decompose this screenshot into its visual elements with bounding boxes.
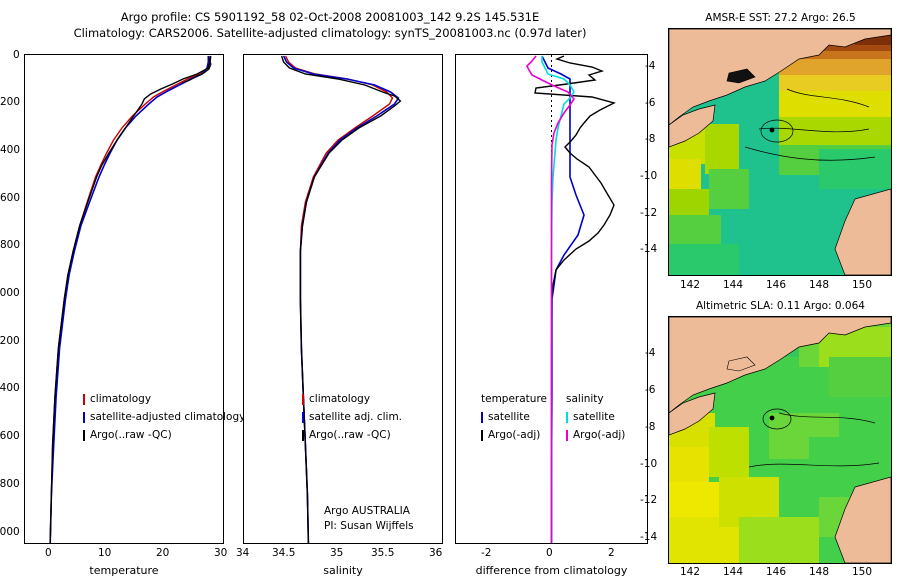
sla-heatmap (669, 317, 891, 563)
legend-label-sal-satellite: satellite adj. clim. (309, 411, 402, 423)
xlabel-difference: difference from climatology (455, 564, 648, 577)
panel-difference: temperature satellite Argo(-adj) salinit… (455, 54, 648, 544)
xtick-temp-10: 10 (98, 547, 111, 559)
salinity-plot (244, 55, 442, 543)
legend-swatch-diff-temp-argo (481, 430, 483, 441)
map-sst-ytick-10: -10 (640, 170, 657, 182)
map-sla-xtick-146: 146 (766, 566, 786, 578)
legend-diff-temp-satellite: satellite (481, 411, 530, 423)
legend-temperature-argo: Argo(..raw -QC) (83, 429, 172, 441)
legend-temperature-satellite: satellite-adjusted climatology (83, 411, 245, 423)
figure-title-line2: Climatology: CARS2006. Satellite-adjuste… (0, 26, 660, 40)
legend-swatch-sal-climatology (302, 394, 304, 405)
figure-root: Argo profile: CS 5901192_58 02-Oct-2008 … (0, 0, 900, 580)
temperature-plot (25, 55, 223, 543)
xtick-temp-0: 0 (45, 547, 52, 559)
map-sst-ytick-12: -12 (640, 207, 657, 219)
map-sla-ytick-12: -12 (640, 494, 657, 506)
figure-title-line1: Argo profile: CS 5901192_58 02-Oct-2008 … (0, 10, 660, 24)
ytick-1600: 1600 (0, 430, 20, 442)
map-sst-ytick-6: -6 (645, 97, 655, 109)
legend-swatch-diff-temp-satellite (481, 412, 483, 423)
legend-diff-sal-argo: Argo(-adj) (566, 429, 625, 441)
legend-label-diff-sal-argo: Argo(-adj) (573, 429, 625, 441)
legend-salinity-satellite: satellite adj. clim. (302, 411, 402, 423)
legend-label-satellite: satellite-adjusted climatology (90, 411, 245, 423)
legend-label-climatology: climatology (90, 393, 151, 405)
ytick-1200: 1200 (0, 335, 20, 347)
ytick-200: 200 (0, 96, 20, 108)
map-sla-ytick-14: -14 (640, 531, 657, 543)
xlabel-temperature: temperature (24, 564, 224, 577)
legend-diff-temp-argo: Argo(-adj) (481, 429, 540, 441)
legend-swatch-sal-argo (302, 430, 304, 441)
panel-temperature: climatology satellite-adjusted climatolo… (24, 54, 224, 544)
ytick-2000: 2000 (0, 526, 20, 538)
map-sla (668, 316, 892, 564)
xtick-diff-neg2: -2 (481, 547, 491, 559)
ytick-1000: 1000 (0, 287, 20, 299)
legend-diff-sal-satellite: satellite (566, 411, 615, 423)
argo-australia-note: Argo AUSTRALIA (324, 505, 410, 517)
pi-note: PI: Susan Wijffels (324, 520, 414, 532)
xtick-sal-345: 34.5 (272, 547, 295, 559)
sst-heatmap (669, 29, 891, 275)
ytick-400: 400 (0, 144, 20, 156)
legend-swatch-sal-satellite (302, 412, 304, 423)
legend-diff-salinity-header: salinity (566, 393, 604, 405)
map-sst-xtick-150: 150 (852, 279, 872, 291)
map-sst-xtick-144: 144 (723, 279, 743, 291)
legend-swatch-diff-sal-argo (566, 430, 568, 441)
legend-label-diff-salinity: salinity (566, 393, 604, 405)
legend-label-diff-sal-satellite: satellite (573, 411, 615, 423)
ytick-600: 600 (0, 192, 20, 204)
map-sla-ytick-10: -10 (640, 458, 657, 470)
legend-swatch-climatology (83, 394, 85, 405)
map-sla-xtick-144: 144 (723, 566, 743, 578)
xtick-sal-34: 34 (236, 547, 249, 559)
xtick-diff-0: 0 (546, 547, 553, 559)
legend-label-diff-temp-satellite: satellite (488, 411, 530, 423)
ytick-0: 0 (13, 49, 20, 61)
map-sla-ytick-4: -4 (645, 347, 655, 359)
xtick-sal-355: 35.5 (371, 547, 394, 559)
map-title-sst: AMSR-E SST: 27.2 Argo: 26.5 (668, 12, 893, 24)
legend-swatch-satellite (83, 412, 85, 423)
map-title-sla: Altimetric SLA: 0.11 Argo: 0.064 (668, 300, 893, 312)
legend-label-diff-temperature: temperature (481, 393, 547, 405)
ytick-800: 800 (0, 239, 20, 251)
ytick-1400: 1400 (0, 382, 20, 394)
legend-salinity-argo: Argo(..raw -QC) (302, 429, 391, 441)
legend-temperature-climatology: climatology (83, 393, 151, 405)
xlabel-salinity: salinity (243, 564, 443, 577)
xtick-temp-20: 20 (156, 547, 169, 559)
map-sla-xtick-150: 150 (852, 566, 872, 578)
legend-label-sal-climatology: climatology (309, 393, 370, 405)
map-sst-xtick-148: 148 (809, 279, 829, 291)
xtick-diff-2: 2 (608, 547, 615, 559)
map-sst-ytick-4: -4 (645, 60, 655, 72)
legend-salinity-climatology: climatology (302, 393, 370, 405)
map-sst-xtick-142: 142 (680, 279, 700, 291)
difference-plot (456, 55, 647, 543)
legend-label-diff-temp-argo: Argo(-adj) (488, 429, 540, 441)
xtick-temp-30: 30 (214, 547, 227, 559)
map-sla-ytick-8: -8 (645, 421, 655, 433)
legend-swatch-argo (83, 430, 85, 441)
ytick-1800: 1800 (0, 478, 20, 490)
map-sla-xtick-148: 148 (809, 566, 829, 578)
map-sla-xtick-142: 142 (680, 566, 700, 578)
panel-salinity: climatology satellite adj. clim. Argo(..… (243, 54, 443, 544)
legend-label-sal-argo: Argo(..raw -QC) (309, 429, 391, 441)
map-sla-ytick-6: -6 (645, 384, 655, 396)
map-sst-xtick-146: 146 (766, 279, 786, 291)
xtick-sal-36: 36 (429, 547, 442, 559)
legend-label-argo: Argo(..raw -QC) (90, 429, 172, 441)
legend-swatch-diff-sal-satellite (566, 412, 568, 423)
map-sst-ytick-14: -14 (640, 243, 657, 255)
legend-diff-temperature-header: temperature (481, 393, 547, 405)
map-sst-ytick-8: -8 (645, 133, 655, 145)
map-sst (668, 28, 892, 276)
xtick-sal-35: 35 (330, 547, 343, 559)
